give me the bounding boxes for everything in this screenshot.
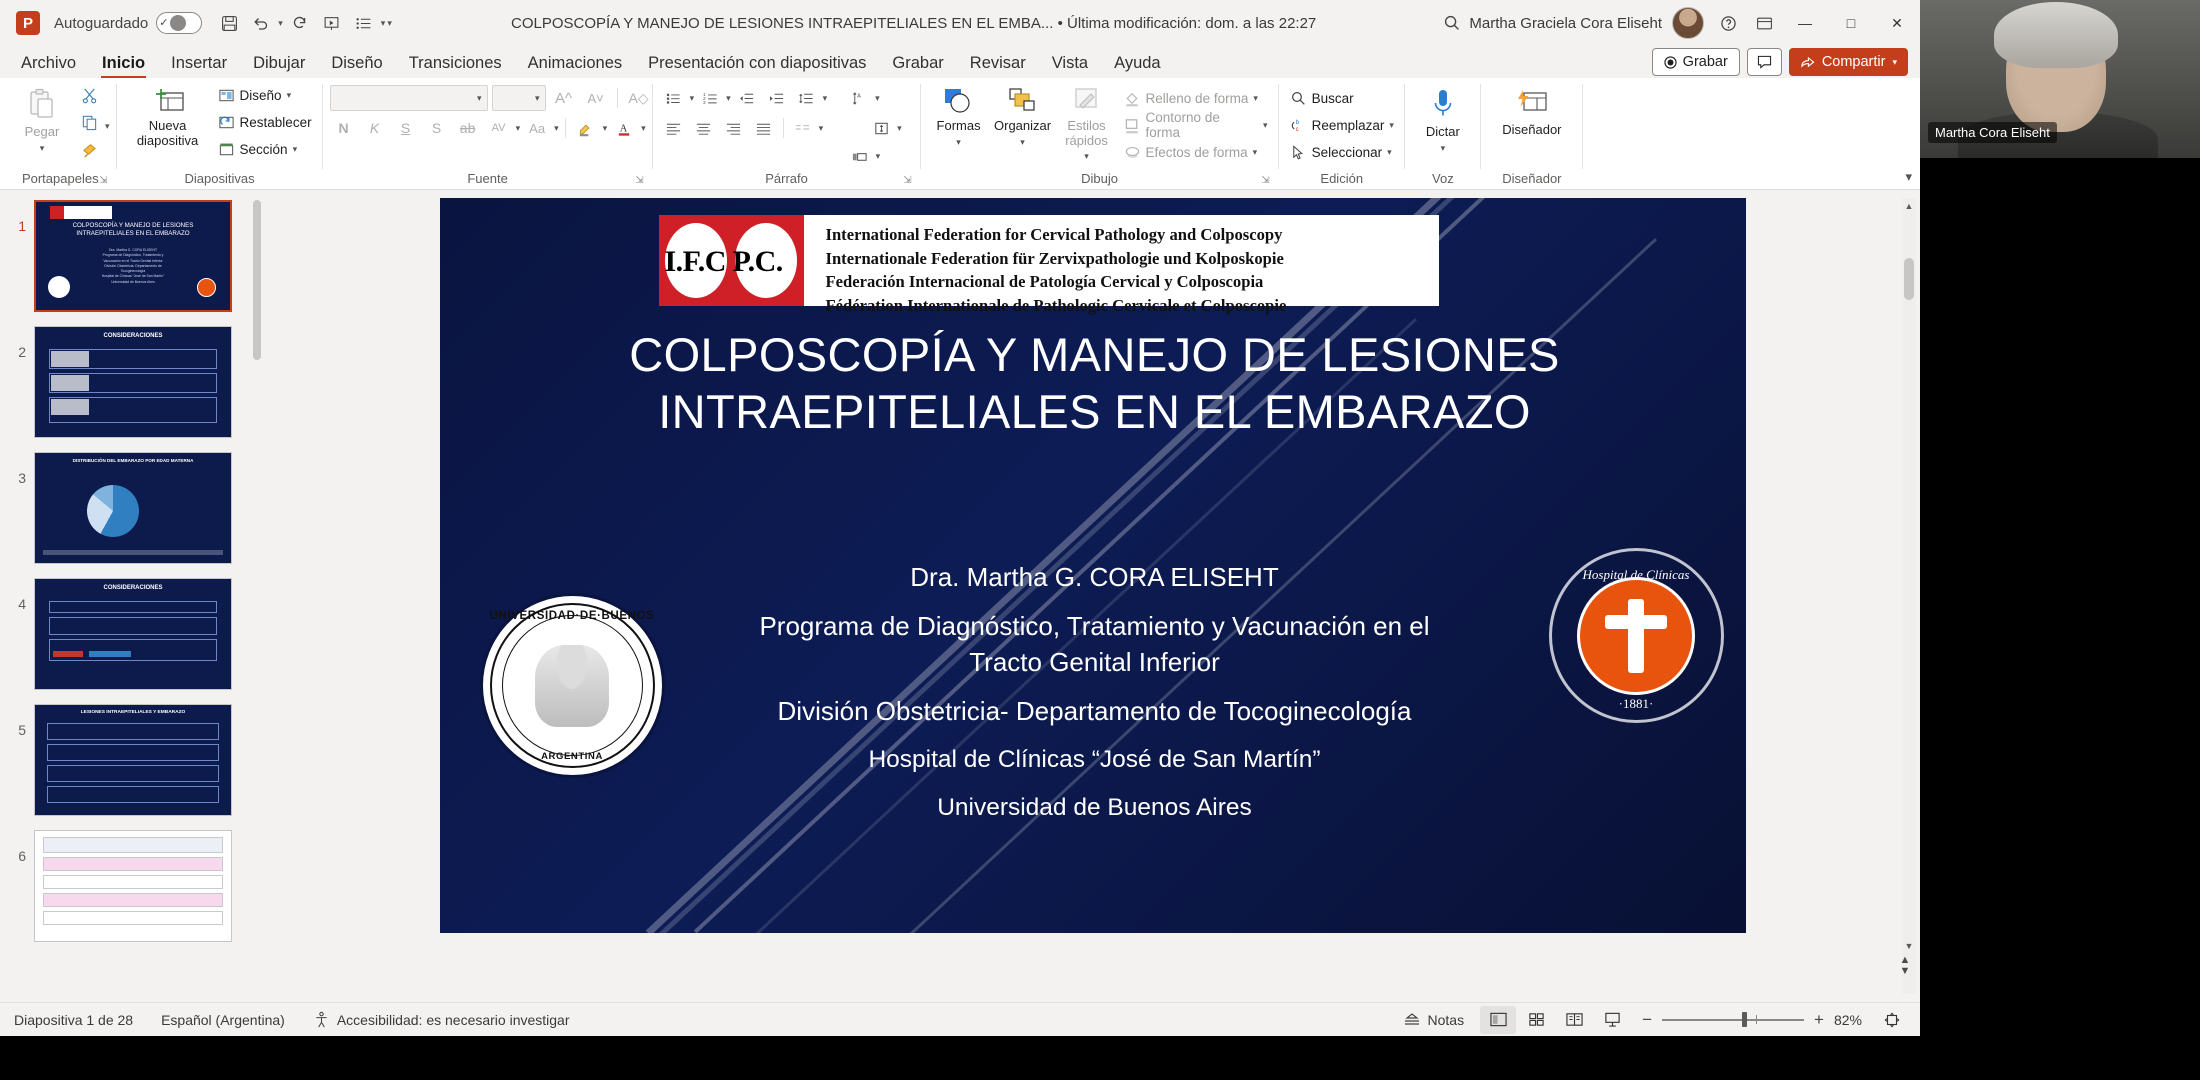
- reading-view-icon: [1565, 1011, 1584, 1028]
- find-label: Buscar: [1312, 91, 1354, 106]
- cut-icon[interactable]: [75, 82, 103, 108]
- tab-dibujar[interactable]: Dibujar: [240, 48, 318, 78]
- titlebar-icons: [1710, 6, 1782, 40]
- drawing-small-buttons: Relleno de forma ▾ Contorno de forma ▾ E…: [1120, 82, 1272, 165]
- tab-diseno[interactable]: Diseño: [318, 48, 395, 78]
- replace-dropdown-icon[interactable]: ▾: [1389, 120, 1394, 131]
- list-icon[interactable]: [349, 8, 379, 38]
- decrease-indent-icon[interactable]: [733, 85, 761, 111]
- bold-label: N: [339, 120, 349, 136]
- thumbnail-title-4: CONSIDERACIONES: [35, 585, 231, 591]
- shape-effects-dropdown-icon[interactable]: ▾: [1253, 147, 1258, 158]
- clipboard-small-buttons: [75, 82, 103, 162]
- hospital-seal-icon: Hospital de Clínicas ·1881·: [1549, 548, 1724, 723]
- ifcpc-line-4: Fédération Internationale de Pathologic …: [826, 294, 1439, 318]
- align-left-icon[interactable]: [660, 115, 688, 141]
- font-size-dropdown-icon[interactable]: ▾: [535, 93, 540, 104]
- tab-inicio[interactable]: Inicio: [89, 48, 158, 78]
- numbering-dropdown-icon[interactable]: ▾: [726, 93, 731, 104]
- numbering-icon[interactable]: 123: [696, 85, 724, 111]
- font-label-text: Fuente: [467, 171, 507, 186]
- change-case-label: Aa: [529, 121, 545, 136]
- thumbnail-number-5: 5: [6, 704, 26, 738]
- tab-vista[interactable]: Vista: [1039, 48, 1101, 78]
- slide-title[interactable]: COLPOSCOPÍA Y MANEJO DE LESIONES INTRAEP…: [555, 326, 1635, 441]
- shapes-dropdown-icon[interactable]: ▾: [956, 137, 961, 147]
- share-icon: [1800, 55, 1815, 69]
- slideshow-icon: [1603, 1011, 1622, 1028]
- thumbnail-title-1: COLPOSCOPÍA Y MANEJO DE LESIONES INTRAEP…: [44, 222, 222, 238]
- justify-icon[interactable]: [750, 115, 778, 141]
- comment-icon: [1757, 55, 1772, 69]
- hospital-seal-arc-text: Hospital de Clínicas: [1552, 567, 1721, 583]
- svg-text:b: b: [1295, 119, 1299, 126]
- strikethrough-label: ab: [460, 120, 476, 136]
- quick-styles-label: Estilos rápidos: [1058, 119, 1116, 148]
- accessibility-icon: [313, 1011, 330, 1028]
- voice-group-label: Voz: [1412, 171, 1474, 189]
- shapes-icon: [942, 86, 976, 116]
- change-case-button[interactable]: Aa: [523, 115, 551, 141]
- font-size-input[interactable]: ▾: [492, 85, 546, 111]
- paragraph-label-text: Párrafo: [765, 171, 808, 186]
- bullets-dropdown-icon[interactable]: ▾: [690, 93, 695, 104]
- italic-label: K: [370, 120, 379, 136]
- editing-group-label: Edición: [1286, 171, 1398, 189]
- shadow-button[interactable]: S: [423, 115, 451, 141]
- bullets-icon[interactable]: [660, 85, 688, 111]
- powerpoint-window: P Autoguardado ✓ ▾: [0, 0, 1920, 1036]
- dictate-dropdown-icon[interactable]: ▾: [1441, 143, 1446, 153]
- shape-fill-label: Relleno de forma: [1146, 91, 1249, 106]
- scroll-down-icon[interactable]: ▼: [1902, 938, 1916, 954]
- section-label: Sección: [240, 142, 288, 157]
- share-button[interactable]: Compartir ▾: [1789, 48, 1908, 76]
- shape-effects-label: Efectos de forma: [1146, 145, 1248, 160]
- powerpoint-logo-icon: P: [16, 11, 40, 35]
- replace-icon: bc: [1290, 117, 1307, 134]
- new-slide-icon: [150, 86, 186, 116]
- ifcpc-text-lines: International Federation for Cervical Pa…: [804, 215, 1439, 306]
- line-spacing-icon[interactable]: [793, 85, 821, 111]
- screen: P Autoguardado ✓ ▾: [0, 0, 2200, 1080]
- undo-icon[interactable]: [246, 8, 276, 38]
- convert-smartart-icon[interactable]: [846, 143, 874, 169]
- thumbnail-image-2[interactable]: CONSIDERACIONES: [34, 326, 232, 438]
- quick-access-toolbar: ▾ ▾ ▾: [214, 8, 392, 38]
- thumbnail-slide-3[interactable]: 3 DISTRIBUCIÓN DEL EMBARAZO POR EDAD MAT…: [0, 452, 265, 564]
- font-color-dropdown-icon[interactable]: ▾: [641, 123, 646, 134]
- line-spacing-dropdown-icon[interactable]: ▾: [823, 93, 828, 104]
- select-button[interactable]: Seleccionar ▾: [1286, 139, 1398, 165]
- hospital-seal-year: ·1881·: [1552, 696, 1721, 712]
- find-icon: [1290, 90, 1307, 107]
- ribbon-group-slides: Nueva diapositiva Diseño ▾ Restablecer: [117, 78, 323, 189]
- tab-grabar[interactable]: Grabar: [879, 48, 956, 78]
- align-right-icon[interactable]: [720, 115, 748, 141]
- shape-fill-dropdown-icon[interactable]: ▾: [1253, 93, 1258, 104]
- thumbnail-slide-5[interactable]: 5 LESIONES INTRAEPITELIALES Y EMBARAZO: [0, 704, 265, 816]
- view-normal-button[interactable]: [1480, 1006, 1516, 1034]
- clipboard-dialog-launcher-icon[interactable]: ⇲: [99, 175, 107, 186]
- subtitle-line-program: Programa de Diagnóstico, Tratamiento y V…: [740, 609, 1450, 680]
- columns-dropdown-icon[interactable]: ▾: [819, 123, 824, 134]
- section-dropdown-icon[interactable]: ▾: [293, 144, 298, 155]
- thumbnail-number-3: 3: [6, 452, 26, 486]
- shape-outline-button[interactable]: Contorno de forma ▾: [1120, 112, 1272, 138]
- account-name: Martha Graciela Cora Eliseht: [1469, 15, 1662, 32]
- paste-icon: [24, 86, 60, 122]
- dictate-button[interactable]: Dictar ▾: [1412, 84, 1474, 157]
- slides-group-label: Diapositivas: [124, 171, 316, 189]
- tab-ayuda[interactable]: Ayuda: [1101, 48, 1174, 78]
- ribbon-group-font: ▾ ▾ A^ A˅ A◇ N K S S: [323, 78, 653, 189]
- toggle-knob: [170, 15, 186, 31]
- workspace: 1 COLPOSCOPÍA Y MANEJO DE LESIONES INTRA…: [0, 190, 1920, 1002]
- new-slide-label: Nueva diapositiva: [126, 119, 210, 148]
- font-group-label: Fuente ⇲: [330, 171, 646, 189]
- clear-formatting-icon[interactable]: A◇: [625, 85, 653, 111]
- character-spacing-label: AV: [492, 122, 506, 134]
- designer-group-label: Diseñador: [1488, 171, 1576, 189]
- zoom-in-icon[interactable]: +: [1814, 1010, 1824, 1030]
- tab-revisar[interactable]: Revisar: [957, 48, 1039, 78]
- normal-view-icon: [1489, 1011, 1508, 1028]
- help-icon[interactable]: [1710, 6, 1746, 40]
- quick-styles-icon: [1071, 86, 1103, 116]
- thumbnail-title-2: CONSIDERACIONES: [35, 333, 231, 339]
- slide-counter[interactable]: Diapositiva 1 de 28: [0, 1003, 147, 1036]
- ribbon-display-options-icon[interactable]: [1746, 6, 1782, 40]
- notes-label: Notas: [1428, 1012, 1465, 1028]
- replace-button[interactable]: bc Reemplazar ▾: [1286, 112, 1398, 138]
- font-name-dropdown-icon[interactable]: ▾: [477, 93, 482, 104]
- scroll-up-icon[interactable]: ▲: [1902, 198, 1916, 214]
- copy-icon[interactable]: [75, 109, 103, 135]
- increase-indent-icon[interactable]: [763, 85, 791, 111]
- text-direction-dropdown-icon[interactable]: ▾: [875, 93, 880, 104]
- shapes-label: Formas: [937, 119, 981, 134]
- font-dialog-launcher-icon[interactable]: ⇲: [635, 175, 643, 186]
- thumbnail-slide-4[interactable]: 4 CONSIDERACIONES: [0, 578, 265, 690]
- ifcpc-line-1: International Federation for Cervical Pa…: [826, 223, 1439, 247]
- ifcpc-line-3: Federación Internacional de Patología Ce…: [826, 270, 1439, 294]
- increase-font-size-icon[interactable]: A^: [550, 85, 578, 111]
- paragraph-dialog-launcher-icon[interactable]: ⇲: [903, 175, 911, 186]
- thumbnail-title-3: DISTRIBUCIÓN DEL EMBARAZO POR EDAD MATER…: [41, 458, 225, 464]
- search-icon[interactable]: [1435, 8, 1469, 38]
- notes-button[interactable]: Notas: [1389, 1012, 1479, 1028]
- editing-buttons: Buscar bc Reemplazar ▾ Seleccionar ▾: [1286, 82, 1398, 165]
- record-label: Grabar: [1683, 54, 1728, 70]
- check-icon: ✓: [159, 18, 168, 29]
- subtitle-line-hospital: Hospital de Clínicas “José de San Martín…: [740, 743, 1450, 776]
- underline-button[interactable]: S: [392, 115, 420, 141]
- arrange-button[interactable]: Organizar ▾: [992, 82, 1054, 151]
- microphone-icon: [1428, 88, 1458, 122]
- drawing-dialog-launcher-icon[interactable]: ⇲: [1261, 175, 1269, 186]
- subtitle-line-author: Dra. Martha G. CORA ELISEHT: [740, 560, 1450, 595]
- shape-effects-icon: [1124, 144, 1141, 161]
- slide-subtitle-block[interactable]: Dra. Martha G. CORA ELISEHT Programa de …: [740, 560, 1450, 838]
- align-text-dropdown-icon[interactable]: ▾: [897, 123, 902, 134]
- tab-animaciones[interactable]: Animaciones: [515, 48, 635, 78]
- subtitle-line-university: Universidad de Buenos Aires: [740, 791, 1450, 824]
- thumbnail-number-6: 6: [6, 830, 26, 864]
- restore-button[interactable]: □: [1828, 0, 1874, 46]
- arrange-label: Organizar: [994, 119, 1051, 134]
- tab-transiciones[interactable]: Transiciones: [396, 48, 515, 78]
- svg-text:c: c: [1295, 126, 1298, 133]
- font-name-input[interactable]: ▾: [330, 85, 488, 111]
- ribbon-group-designer: Diseñador Diseñador: [1481, 78, 1583, 189]
- bold-button[interactable]: N: [330, 115, 358, 141]
- zoom-control[interactable]: − + 82%: [1632, 1010, 1872, 1030]
- uba-seal-bottom-text: ARGENTINA: [483, 751, 662, 762]
- thumbnail-number-1: 1: [6, 200, 26, 234]
- layout-label: Diseño: [240, 88, 282, 103]
- decrease-font-size-icon[interactable]: A˅: [582, 85, 610, 111]
- thumbnail-slide-2[interactable]: 2 CONSIDERACIONES: [0, 326, 265, 438]
- highlight-dropdown-icon[interactable]: ▾: [603, 123, 608, 134]
- ribbon-group-editing: Buscar bc Reemplazar ▾ Seleccionar ▾: [1279, 78, 1405, 189]
- smartart-dropdown-icon[interactable]: ▾: [876, 151, 881, 162]
- tab-archivo[interactable]: Archivo: [8, 48, 89, 78]
- slide-vertical-scrollbar[interactable]: ▲ ▼ ▲▼: [1902, 198, 1916, 994]
- designer-button[interactable]: Diseñador: [1488, 84, 1576, 142]
- section-icon: [218, 141, 235, 158]
- shape-fill-icon: [1124, 90, 1141, 107]
- autosave-control[interactable]: Autoguardado ✓: [54, 12, 202, 34]
- close-button[interactable]: ✕: [1874, 0, 1920, 46]
- shape-outline-label: Contorno de forma: [1146, 110, 1259, 140]
- record-button[interactable]: Grabar: [1652, 48, 1740, 76]
- section-button[interactable]: Sección ▾: [214, 136, 316, 162]
- slide-scroll-track[interactable]: [1902, 198, 1916, 994]
- previous-slide-icon[interactable]: ▲▼: [1896, 955, 1914, 978]
- shape-outline-dropdown-icon[interactable]: ▾: [1263, 120, 1268, 131]
- ribbon-tabs: Archivo Inicio Insertar Dibujar Diseño T…: [0, 46, 1920, 78]
- slide-sorter-icon: [1527, 1011, 1546, 1028]
- dictate-label: Dictar: [1426, 125, 1460, 140]
- redo-icon[interactable]: [285, 8, 315, 38]
- list-dropdown-icon[interactable]: ▾: [381, 18, 386, 29]
- tab-insertar[interactable]: Insertar: [158, 48, 240, 78]
- designer-label: Diseñador: [1502, 123, 1561, 138]
- layout-button[interactable]: Diseño ▾: [214, 82, 316, 108]
- share-dropdown-icon[interactable]: ▾: [1892, 57, 1897, 68]
- shape-fill-button[interactable]: Relleno de forma ▾: [1120, 85, 1272, 111]
- columns-icon[interactable]: [789, 115, 817, 141]
- slides-small-buttons: Diseño ▾ Restablecer Sección ▾: [214, 82, 316, 162]
- ribbon-group-drawing: Formas ▾ Organizar ▾ Estil: [921, 78, 1279, 189]
- new-slide-button[interactable]: Nueva diapositiva: [124, 82, 212, 152]
- subtitle-line-division: División Obstetricia- Departamento de To…: [740, 694, 1450, 729]
- align-text-icon[interactable]: [867, 115, 895, 141]
- designer-icon: [1514, 88, 1550, 120]
- uba-seal-icon: UNIVERSIDAD·DE·BUENOS ARGENTINA: [480, 593, 665, 778]
- start-presentation-icon[interactable]: [317, 8, 347, 38]
- clipboard-label-text: Portapapeles: [22, 171, 99, 186]
- reset-button[interactable]: Restablecer: [214, 109, 316, 135]
- layout-dropdown-icon[interactable]: ▾: [287, 90, 292, 101]
- account-area[interactable]: Martha Graciela Cora Eliseht: [1469, 7, 1704, 39]
- align-center-icon[interactable]: [690, 115, 718, 141]
- select-label: Seleccionar: [1312, 145, 1383, 160]
- zoom-level[interactable]: 82%: [1834, 1012, 1862, 1028]
- font-color-icon[interactable]: A: [610, 115, 638, 141]
- thumbnail-image-6[interactable]: [34, 830, 232, 942]
- ifcpc-acronym-2: P.C.: [733, 245, 783, 279]
- notes-icon: [1403, 1012, 1421, 1028]
- slide-thumbnails-pane[interactable]: 1 COLPOSCOPÍA Y MANEJO DE LESIONES INTRA…: [0, 190, 265, 1002]
- collapse-ribbon-icon[interactable]: ▾: [1905, 169, 1912, 185]
- webcam-person-hair: [1994, 2, 2118, 68]
- text-direction-icon[interactable]: A: [845, 85, 873, 111]
- webcam-participant-name: Martha Cora Eliseht: [1928, 122, 2057, 143]
- ifcpc-logo[interactable]: I.F.C P.C. International Federation for …: [659, 215, 1439, 306]
- ifcpc-line-2: Internationale Federation für Zervixpath…: [826, 247, 1439, 271]
- tabstrip-actions: Grabar Compartir ▾: [1652, 48, 1920, 78]
- ribbon-group-voice: Dictar ▾ Voz: [1405, 78, 1481, 189]
- select-dropdown-icon[interactable]: ▾: [1387, 147, 1392, 158]
- zoom-slider[interactable]: [1662, 1013, 1804, 1027]
- thumbnail-number-4: 4: [6, 578, 26, 612]
- quick-styles-button[interactable]: Estilos rápidos ▾: [1056, 82, 1118, 165]
- format-painter-icon[interactable]: [75, 136, 103, 162]
- drawing-group-label: Dibujo ⇲: [928, 171, 1272, 189]
- underline-label: S: [401, 120, 410, 136]
- slide-scroll-thumb[interactable]: [1904, 258, 1914, 300]
- drawing-label-text: Dibujo: [1081, 171, 1118, 186]
- view-slideshow-button[interactable]: [1594, 1006, 1630, 1034]
- title-bar: P Autoguardado ✓ ▾: [0, 0, 1920, 46]
- thumbnail-slide-1[interactable]: 1 COLPOSCOPÍA Y MANEJO DE LESIONES INTRA…: [0, 200, 265, 312]
- thumbnail-image-1[interactable]: COLPOSCOPÍA Y MANEJO DE LESIONES INTRAEP…: [34, 200, 232, 312]
- thumbnail-title-5: LESIONES INTRAEPITELIALES Y EMBARAZO: [41, 710, 225, 715]
- paste-dropdown-icon[interactable]: ▾: [40, 143, 45, 153]
- save-icon[interactable]: [214, 8, 244, 38]
- arrange-dropdown-icon[interactable]: ▾: [1020, 137, 1025, 147]
- paste-label: Pegar: [25, 125, 60, 140]
- paste-button[interactable]: Pegar ▾: [11, 82, 73, 157]
- ifcpc-acronym-1: I.F.C: [665, 245, 726, 279]
- view-reading-button[interactable]: [1556, 1006, 1592, 1034]
- fit-slide-to-window-icon[interactable]: [1874, 1006, 1910, 1034]
- clipboard-caret-icon[interactable]: ▾: [105, 121, 110, 132]
- avatar[interactable]: [1672, 7, 1704, 39]
- strikethrough-button[interactable]: ab: [454, 115, 482, 141]
- slide-canvas[interactable]: I.F.C P.C. International Federation for …: [440, 198, 1746, 933]
- thumbnail-slide-6[interactable]: 6: [0, 830, 265, 942]
- clipboard-group-label: Portapapeles ⇲: [11, 171, 110, 189]
- italic-button[interactable]: K: [361, 115, 389, 141]
- comments-button[interactable]: [1747, 48, 1782, 76]
- arrange-icon: [1006, 86, 1040, 116]
- quick-styles-dropdown-icon[interactable]: ▾: [1084, 151, 1089, 161]
- svg-text:A: A: [857, 93, 861, 99]
- ribbon: Pegar ▾ ▾: [0, 78, 1920, 190]
- character-spacing-dropdown-icon[interactable]: ▾: [516, 123, 521, 134]
- webcam-panel: Martha Cora Eliseht: [1920, 0, 2200, 1080]
- reset-icon: [218, 114, 235, 131]
- zoom-out-icon[interactable]: −: [1642, 1010, 1652, 1030]
- share-label: Compartir: [1822, 54, 1886, 70]
- thumbnail-image-5[interactable]: LESIONES INTRAEPITELIALES Y EMBARAZO: [34, 704, 232, 816]
- ribbon-group-clipboard: Pegar ▾ ▾: [4, 78, 117, 189]
- accessibility-label: Accesibilidad: es necesario investigar: [337, 1012, 570, 1028]
- shape-effects-button[interactable]: Efectos de forma ▾: [1120, 139, 1272, 165]
- language-indicator[interactable]: Español (Argentina): [147, 1003, 299, 1036]
- change-case-dropdown-icon[interactable]: ▾: [554, 123, 559, 134]
- paragraph-group-label: Párrafo ⇲: [660, 171, 914, 189]
- shape-outline-icon: [1124, 117, 1141, 134]
- character-spacing-button[interactable]: AV: [485, 115, 513, 141]
- tab-presentacion[interactable]: Presentación con diapositivas: [635, 48, 879, 78]
- shapes-button[interactable]: Formas ▾: [928, 82, 990, 151]
- thumbnail-image-4[interactable]: CONSIDERACIONES: [34, 578, 232, 690]
- autosave-toggle[interactable]: ✓: [156, 12, 202, 34]
- thumbnails-scroll-thumb[interactable]: [253, 200, 261, 360]
- record-icon: [1664, 56, 1677, 69]
- undo-dropdown-icon[interactable]: ▾: [278, 18, 283, 29]
- status-bar: Diapositiva 1 de 28 Español (Argentina) …: [0, 1002, 1920, 1036]
- autosave-label: Autoguardado: [54, 15, 148, 32]
- reset-label: Restablecer: [240, 115, 312, 130]
- svg-text:3: 3: [703, 100, 706, 106]
- shadow-label: S: [432, 120, 441, 136]
- thumbnail-number-2: 2: [6, 326, 26, 360]
- document-title: COLPOSCOPÍA Y MANEJO DE LESIONES INTRAEP…: [392, 15, 1436, 32]
- view-sorter-button[interactable]: [1518, 1006, 1554, 1034]
- text-highlight-icon[interactable]: [572, 115, 600, 141]
- find-button[interactable]: Buscar: [1286, 85, 1398, 111]
- accessibility-status[interactable]: Accesibilidad: es necesario investigar: [299, 1003, 584, 1036]
- uba-seal-top-text: UNIVERSIDAD·DE·BUENOS: [483, 610, 662, 622]
- select-cursor-icon: [1290, 144, 1307, 161]
- layout-icon: [218, 87, 235, 104]
- thumbnail-image-3[interactable]: DISTRIBUCIÓN DEL EMBARAZO POR EDAD MATER…: [34, 452, 232, 564]
- status-right: Notas − +: [1389, 1006, 1920, 1034]
- ribbon-group-paragraph: ▾ 123 ▾ ▾ A ▾: [653, 78, 921, 189]
- svg-text:A: A: [619, 123, 627, 134]
- webcam-panel-background: [1920, 158, 2200, 1080]
- slide-editing-area: I.F.C P.C. International Federation for …: [265, 190, 1920, 1002]
- bottom-black-bar: [0, 1036, 1920, 1080]
- thumbnails-scrollbar[interactable]: [251, 200, 263, 978]
- minimize-button[interactable]: —: [1782, 0, 1828, 46]
- ifcpc-mark-icon: I.F.C P.C.: [659, 215, 804, 306]
- replace-label: Reemplazar: [1312, 118, 1385, 133]
